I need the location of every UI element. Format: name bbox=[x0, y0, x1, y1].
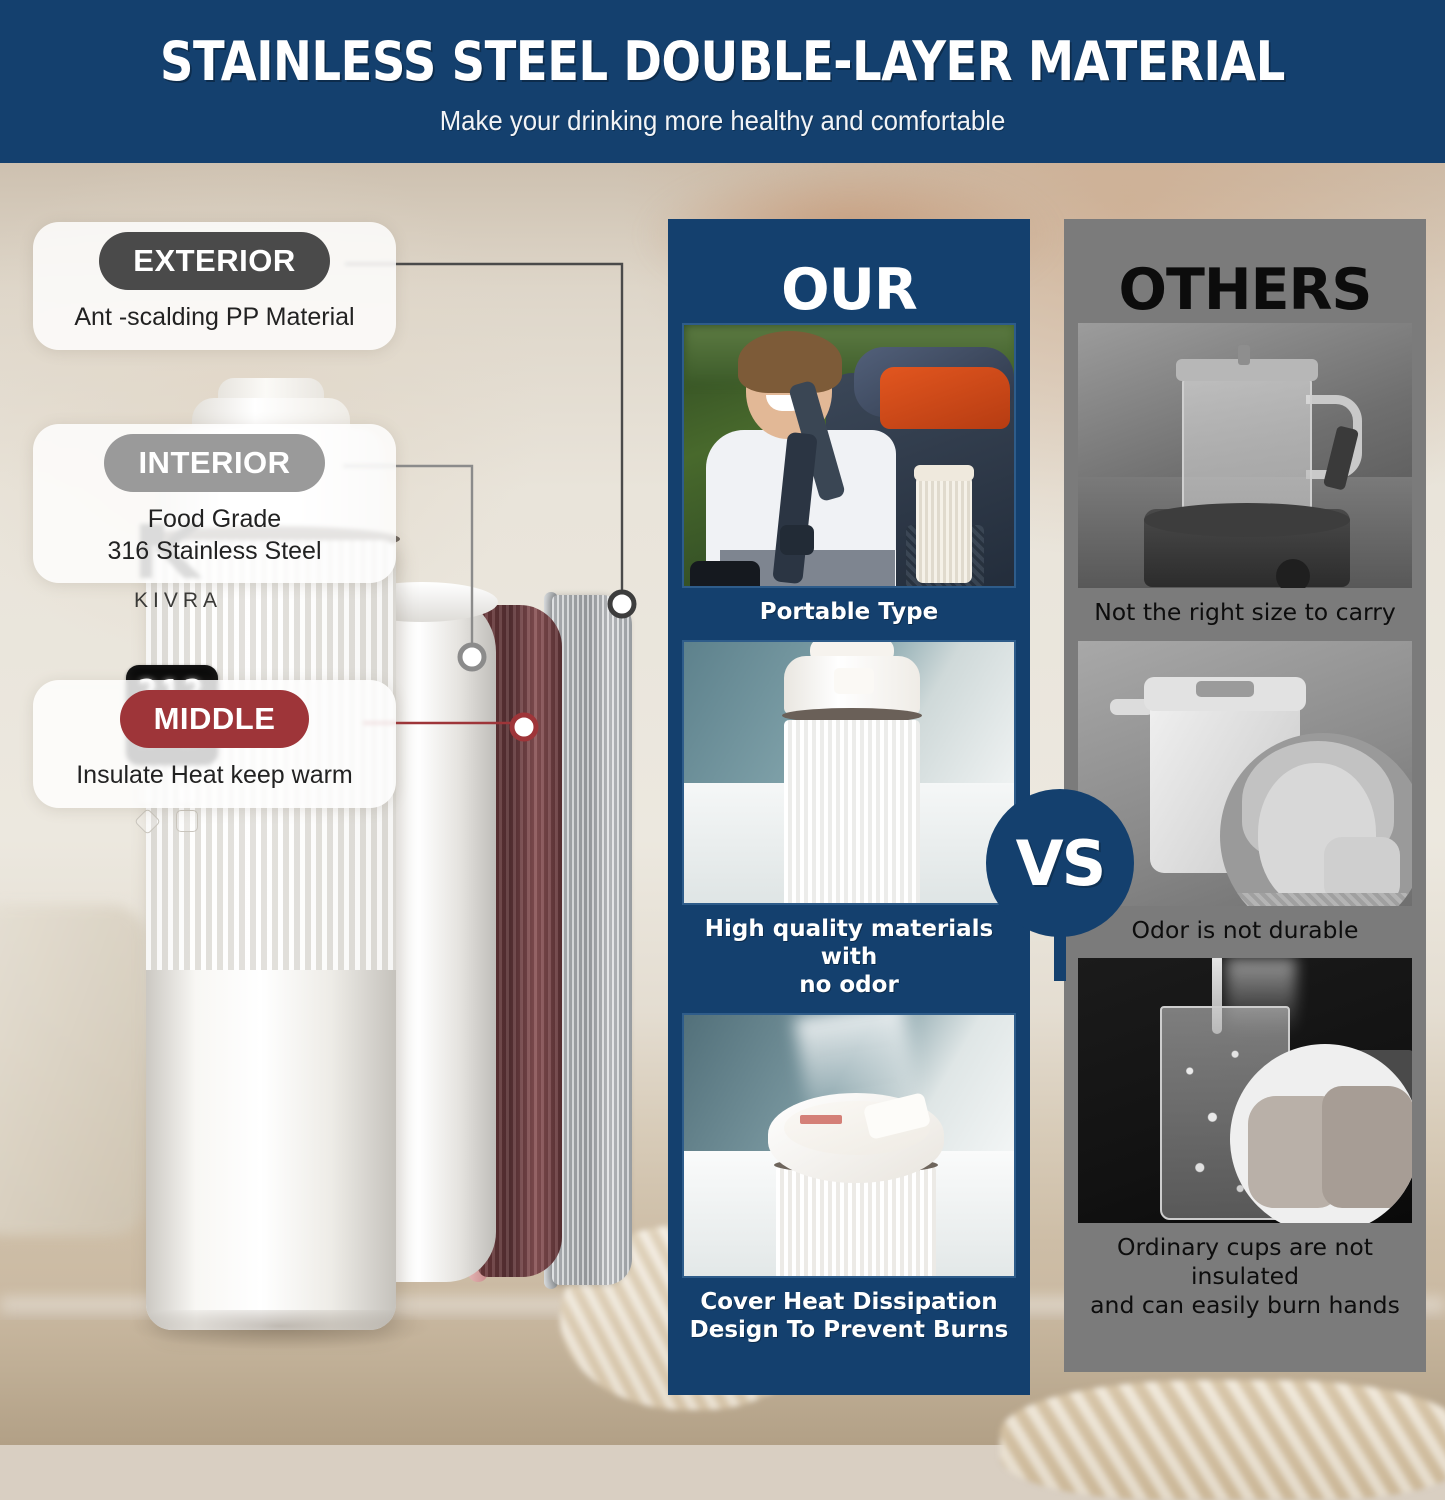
our-caption-1: Portable Type bbox=[668, 588, 1030, 640]
glass-teapot-on-burner-photo bbox=[1078, 323, 1412, 588]
others-column: OTHERS Not the right size to carry bbox=[1064, 219, 1426, 1372]
others-row-1: Not the right size to carry bbox=[1064, 323, 1426, 641]
callout-interior: INTERIOR Food Grade 316 Stainless Steel bbox=[33, 424, 396, 583]
our-row-1: Portable Type bbox=[668, 323, 1030, 640]
callout-interior-description: Food Grade 316 Stainless Steel bbox=[47, 504, 382, 567]
callout-exterior-label: EXTERIOR bbox=[99, 232, 329, 290]
page-subtitle: Make your drinking more healthy and comf… bbox=[58, 105, 1387, 137]
others-caption-1: Not the right size to carry bbox=[1064, 588, 1426, 641]
others-row-3: Ordinary cups are not insulated and can … bbox=[1064, 958, 1426, 1333]
comparison-section: OUR Portable Type bbox=[668, 219, 1428, 1414]
our-row-3: Cover Heat Dissipation Design To Prevent… bbox=[668, 1013, 1030, 1358]
header-banner: STAINLESS STEEL DOUBLE-LAYER MATERIAL Ma… bbox=[0, 0, 1445, 163]
page-title: STAINLESS STEEL DOUBLE-LAYER MATERIAL bbox=[101, 30, 1344, 93]
pouring-hot-water-glass-photo bbox=[1078, 958, 1412, 1223]
callout-exterior: EXTERIOR Ant -scalding PP Material bbox=[33, 222, 396, 350]
bottle-lid-steam-photo bbox=[682, 1013, 1016, 1278]
our-caption-3: Cover Heat Dissipation Design To Prevent… bbox=[668, 1278, 1030, 1358]
vs-label: VS bbox=[1016, 827, 1105, 900]
white-ribbed-bottle-photo bbox=[682, 640, 1016, 905]
others-heading: OTHERS bbox=[1064, 219, 1426, 323]
callout-interior-label: INTERIOR bbox=[104, 434, 324, 492]
callout-middle-description: Insulate Heat keep warm bbox=[47, 760, 382, 792]
hiker-with-backpack-photo bbox=[682, 323, 1016, 588]
vs-badge: VS bbox=[986, 789, 1134, 937]
callout-middle-label: MIDDLE bbox=[120, 690, 310, 748]
callout-middle: MIDDLE Insulate Heat keep warm bbox=[33, 680, 396, 808]
callout-exterior-description: Ant -scalding PP Material bbox=[47, 302, 382, 334]
our-heading: OUR bbox=[668, 219, 1030, 323]
our-caption-2: High quality materials with no odor bbox=[668, 905, 1030, 1013]
our-row-2: High quality materials with no odor bbox=[668, 640, 1030, 1013]
others-caption-3: Ordinary cups are not insulated and can … bbox=[1064, 1223, 1426, 1333]
others-row-2: Odor is not durable bbox=[1064, 641, 1426, 959]
others-caption-2: Odor is not durable bbox=[1064, 906, 1426, 959]
our-column: OUR Portable Type bbox=[668, 219, 1030, 1395]
